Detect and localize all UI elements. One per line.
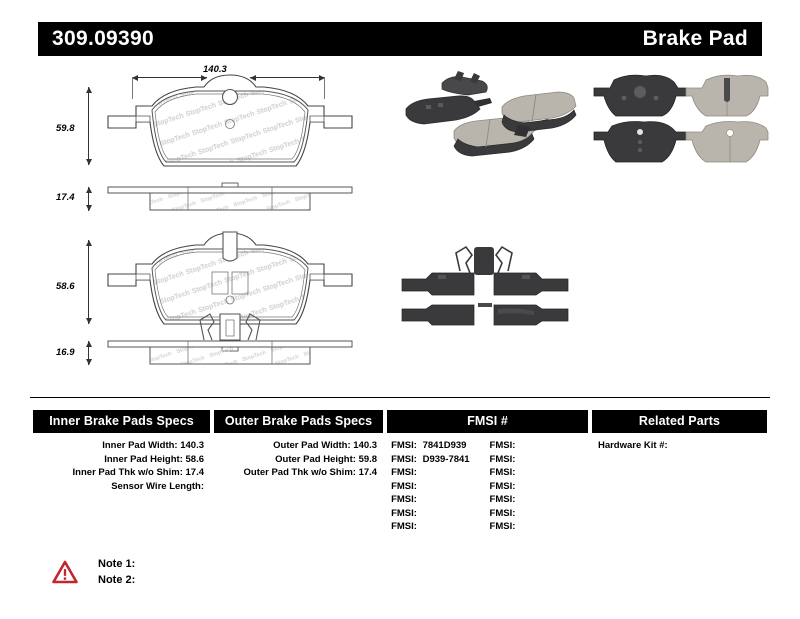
inner-pad-edge-svg: StopTech bbox=[100, 182, 360, 216]
inner-pad-thickness-dim-label: 17.4 bbox=[56, 192, 75, 203]
table-top-rule bbox=[30, 397, 770, 398]
inner-pad-width-dim-line-right bbox=[250, 77, 325, 78]
spec-table: Inner Brake Pads Specs Inner Pad Width: … bbox=[33, 410, 767, 534]
fmsi-label: FMSI: bbox=[391, 508, 417, 519]
fmsi-right-column: FMSI: FMSI: FMSI: FMSI: FMSI: bbox=[490, 439, 588, 534]
related-parts-column: Related Parts Hardware Kit #: bbox=[592, 410, 767, 534]
fmsi-value bbox=[417, 494, 420, 505]
fmsi-value bbox=[515, 494, 518, 505]
part-number: 309.09390 bbox=[52, 27, 154, 51]
fmsi-row: FMSI: bbox=[391, 493, 489, 507]
inner-pad-thickness-dim-line bbox=[88, 187, 89, 211]
outer-pad-edge-drawing: 16.9 bbox=[100, 310, 360, 370]
fmsi-row: FMSI: bbox=[490, 507, 588, 521]
fmsi-label: FMSI: bbox=[490, 494, 516, 505]
product-photo-flat-group bbox=[590, 70, 770, 175]
spec-row: Outer Pad Width: 140.3 bbox=[214, 439, 383, 453]
fmsi-value bbox=[417, 467, 420, 478]
spec-row: Inner Pad Thk w/o Shim: 17.4 bbox=[33, 466, 210, 480]
spec-label: Sensor Wire Length: bbox=[111, 481, 204, 492]
spec-label: Outer Pad Height: bbox=[275, 454, 356, 465]
fmsi-value bbox=[417, 521, 420, 532]
inner-specs-body: Inner Pad Width: 140.3 Inner Pad Height:… bbox=[33, 433, 210, 493]
spec-value: 17.4 bbox=[186, 467, 205, 478]
parts-row: Hardware Kit #: bbox=[592, 439, 767, 453]
fmsi-row: FMSI: bbox=[490, 439, 588, 453]
fmsi-row: FMSI: bbox=[391, 466, 489, 480]
inner-pad-height-dim-label: 59.8 bbox=[56, 123, 75, 134]
outer-pad-thickness-dim-label: 16.9 bbox=[56, 347, 75, 358]
spec-value: 17.4 bbox=[359, 467, 378, 478]
fmsi-label: FMSI: bbox=[490, 508, 516, 519]
fmsi-row: FMSI: bbox=[490, 453, 588, 467]
fmsi-label: FMSI: bbox=[490, 440, 516, 451]
spec-label: Inner Pad Height: bbox=[104, 454, 183, 465]
fmsi-row: FMSI: bbox=[391, 480, 489, 494]
notes-section: Note 1: Note 2: bbox=[52, 556, 135, 588]
fmsi-label: FMSI: bbox=[391, 454, 417, 465]
edge-pads-photo-svg bbox=[398, 235, 578, 340]
angled-pads-photo-svg bbox=[398, 65, 578, 175]
outer-pad-height-dim-label: 58.6 bbox=[56, 281, 75, 292]
spec-label: Inner Pad Thk w/o Shim: bbox=[73, 467, 183, 478]
fmsi-value bbox=[515, 481, 518, 492]
fmsi-row: FMSI: 7841D939 bbox=[391, 439, 489, 453]
inner-pad-width-dim-line bbox=[132, 77, 207, 78]
inner-pad-face-svg: StopTech bbox=[100, 70, 360, 180]
flat-pads-photo-svg bbox=[590, 70, 770, 175]
fmsi-value: 7841D939 bbox=[420, 440, 467, 451]
fmsi-label: FMSI: bbox=[391, 440, 417, 451]
note-item-1: Note 1: bbox=[98, 556, 135, 572]
product-type: Brake Pad bbox=[643, 27, 748, 51]
fmsi-label: FMSI: bbox=[391, 521, 417, 532]
spec-value: 140.3 bbox=[180, 440, 204, 451]
fmsi-value bbox=[417, 481, 420, 492]
inner-specs-column: Inner Brake Pads Specs Inner Pad Width: … bbox=[33, 410, 210, 534]
spec-row: Outer Pad Height: 59.8 bbox=[214, 453, 383, 467]
outer-pad-edge-svg bbox=[100, 310, 360, 370]
outer-pad-height-dim-line bbox=[88, 240, 89, 324]
fmsi-value: D939-7841 bbox=[420, 454, 470, 465]
spec-row: Inner Pad Width: 140.3 bbox=[33, 439, 210, 453]
inner-pad-width-dim-label: 140.3 bbox=[203, 64, 227, 75]
related-parts-header: Related Parts bbox=[592, 410, 767, 433]
fmsi-row: FMSI: bbox=[490, 466, 588, 480]
note-list: Note 1: Note 2: bbox=[98, 556, 135, 588]
fmsi-value bbox=[515, 508, 518, 519]
fmsi-label: FMSI: bbox=[490, 521, 516, 532]
spec-value: 58.6 bbox=[186, 454, 205, 465]
fmsi-value bbox=[515, 440, 518, 451]
fmsi-row: FMSI: bbox=[391, 507, 489, 521]
fmsi-header: FMSI # bbox=[387, 410, 588, 433]
fmsi-label: FMSI: bbox=[490, 454, 516, 465]
fmsi-row: FMSI: bbox=[490, 480, 588, 494]
fmsi-row: FMSI: bbox=[490, 493, 588, 507]
fmsi-column: FMSI # FMSI: 7841D939 FMSI: D939-7841 FM… bbox=[387, 410, 588, 534]
fmsi-value bbox=[515, 467, 518, 478]
outer-specs-column: Outer Brake Pads Specs Outer Pad Width: … bbox=[214, 410, 383, 534]
fmsi-value bbox=[515, 521, 518, 532]
outer-specs-header: Outer Brake Pads Specs bbox=[214, 410, 383, 433]
note-item-2: Note 2: bbox=[98, 572, 135, 588]
fmsi-label: FMSI: bbox=[391, 467, 417, 478]
spec-value: 59.8 bbox=[359, 454, 378, 465]
inner-pad-edge-drawing: 17.4 StopTech bbox=[100, 182, 360, 216]
fmsi-row: FMSI: bbox=[490, 520, 588, 534]
fmsi-value bbox=[515, 454, 518, 465]
ext-line bbox=[132, 77, 133, 99]
fmsi-row: FMSI: D939-7841 bbox=[391, 453, 489, 467]
inner-pad-face-drawing: 140.3 59.8 StopTech bbox=[100, 70, 360, 180]
product-photo-edge-pair bbox=[398, 235, 578, 340]
fmsi-left-column: FMSI: 7841D939 FMSI: D939-7841 FMSI: FMS… bbox=[391, 439, 489, 534]
inner-specs-header: Inner Brake Pads Specs bbox=[33, 410, 210, 433]
spec-label: Outer Pad Width: bbox=[273, 440, 351, 451]
product-photo-angled-group bbox=[398, 65, 578, 175]
parts-label: Hardware Kit #: bbox=[598, 440, 668, 451]
outer-pad-thickness-dim-line bbox=[88, 341, 89, 365]
drawing-area: 140.3 59.8 StopTech 1 bbox=[0, 60, 800, 390]
spec-label: Inner Pad Width: bbox=[102, 440, 177, 451]
title-bar: 309.09390 Brake Pad bbox=[38, 22, 762, 56]
ext-line bbox=[324, 77, 325, 99]
fmsi-label: FMSI: bbox=[490, 481, 516, 492]
spec-row: Inner Pad Height: 58.6 bbox=[33, 453, 210, 467]
spec-value: 140.3 bbox=[353, 440, 377, 451]
fmsi-label: FMSI: bbox=[391, 481, 417, 492]
spec-row: Outer Pad Thk w/o Shim: 17.4 bbox=[214, 466, 383, 480]
fmsi-value bbox=[417, 508, 420, 519]
spec-label: Outer Pad Thk w/o Shim: bbox=[244, 467, 356, 478]
spec-row: Sensor Wire Length: bbox=[33, 480, 210, 494]
fmsi-label: FMSI: bbox=[490, 467, 516, 478]
related-parts-body: Hardware Kit #: bbox=[592, 433, 767, 453]
fmsi-row: FMSI: bbox=[391, 520, 489, 534]
inner-pad-height-dim-line bbox=[88, 87, 89, 165]
fmsi-body: FMSI: 7841D939 FMSI: D939-7841 FMSI: FMS… bbox=[387, 433, 588, 534]
warning-triangle-icon bbox=[52, 560, 78, 584]
outer-specs-body: Outer Pad Width: 140.3 Outer Pad Height:… bbox=[214, 433, 383, 480]
fmsi-label: FMSI: bbox=[391, 494, 417, 505]
